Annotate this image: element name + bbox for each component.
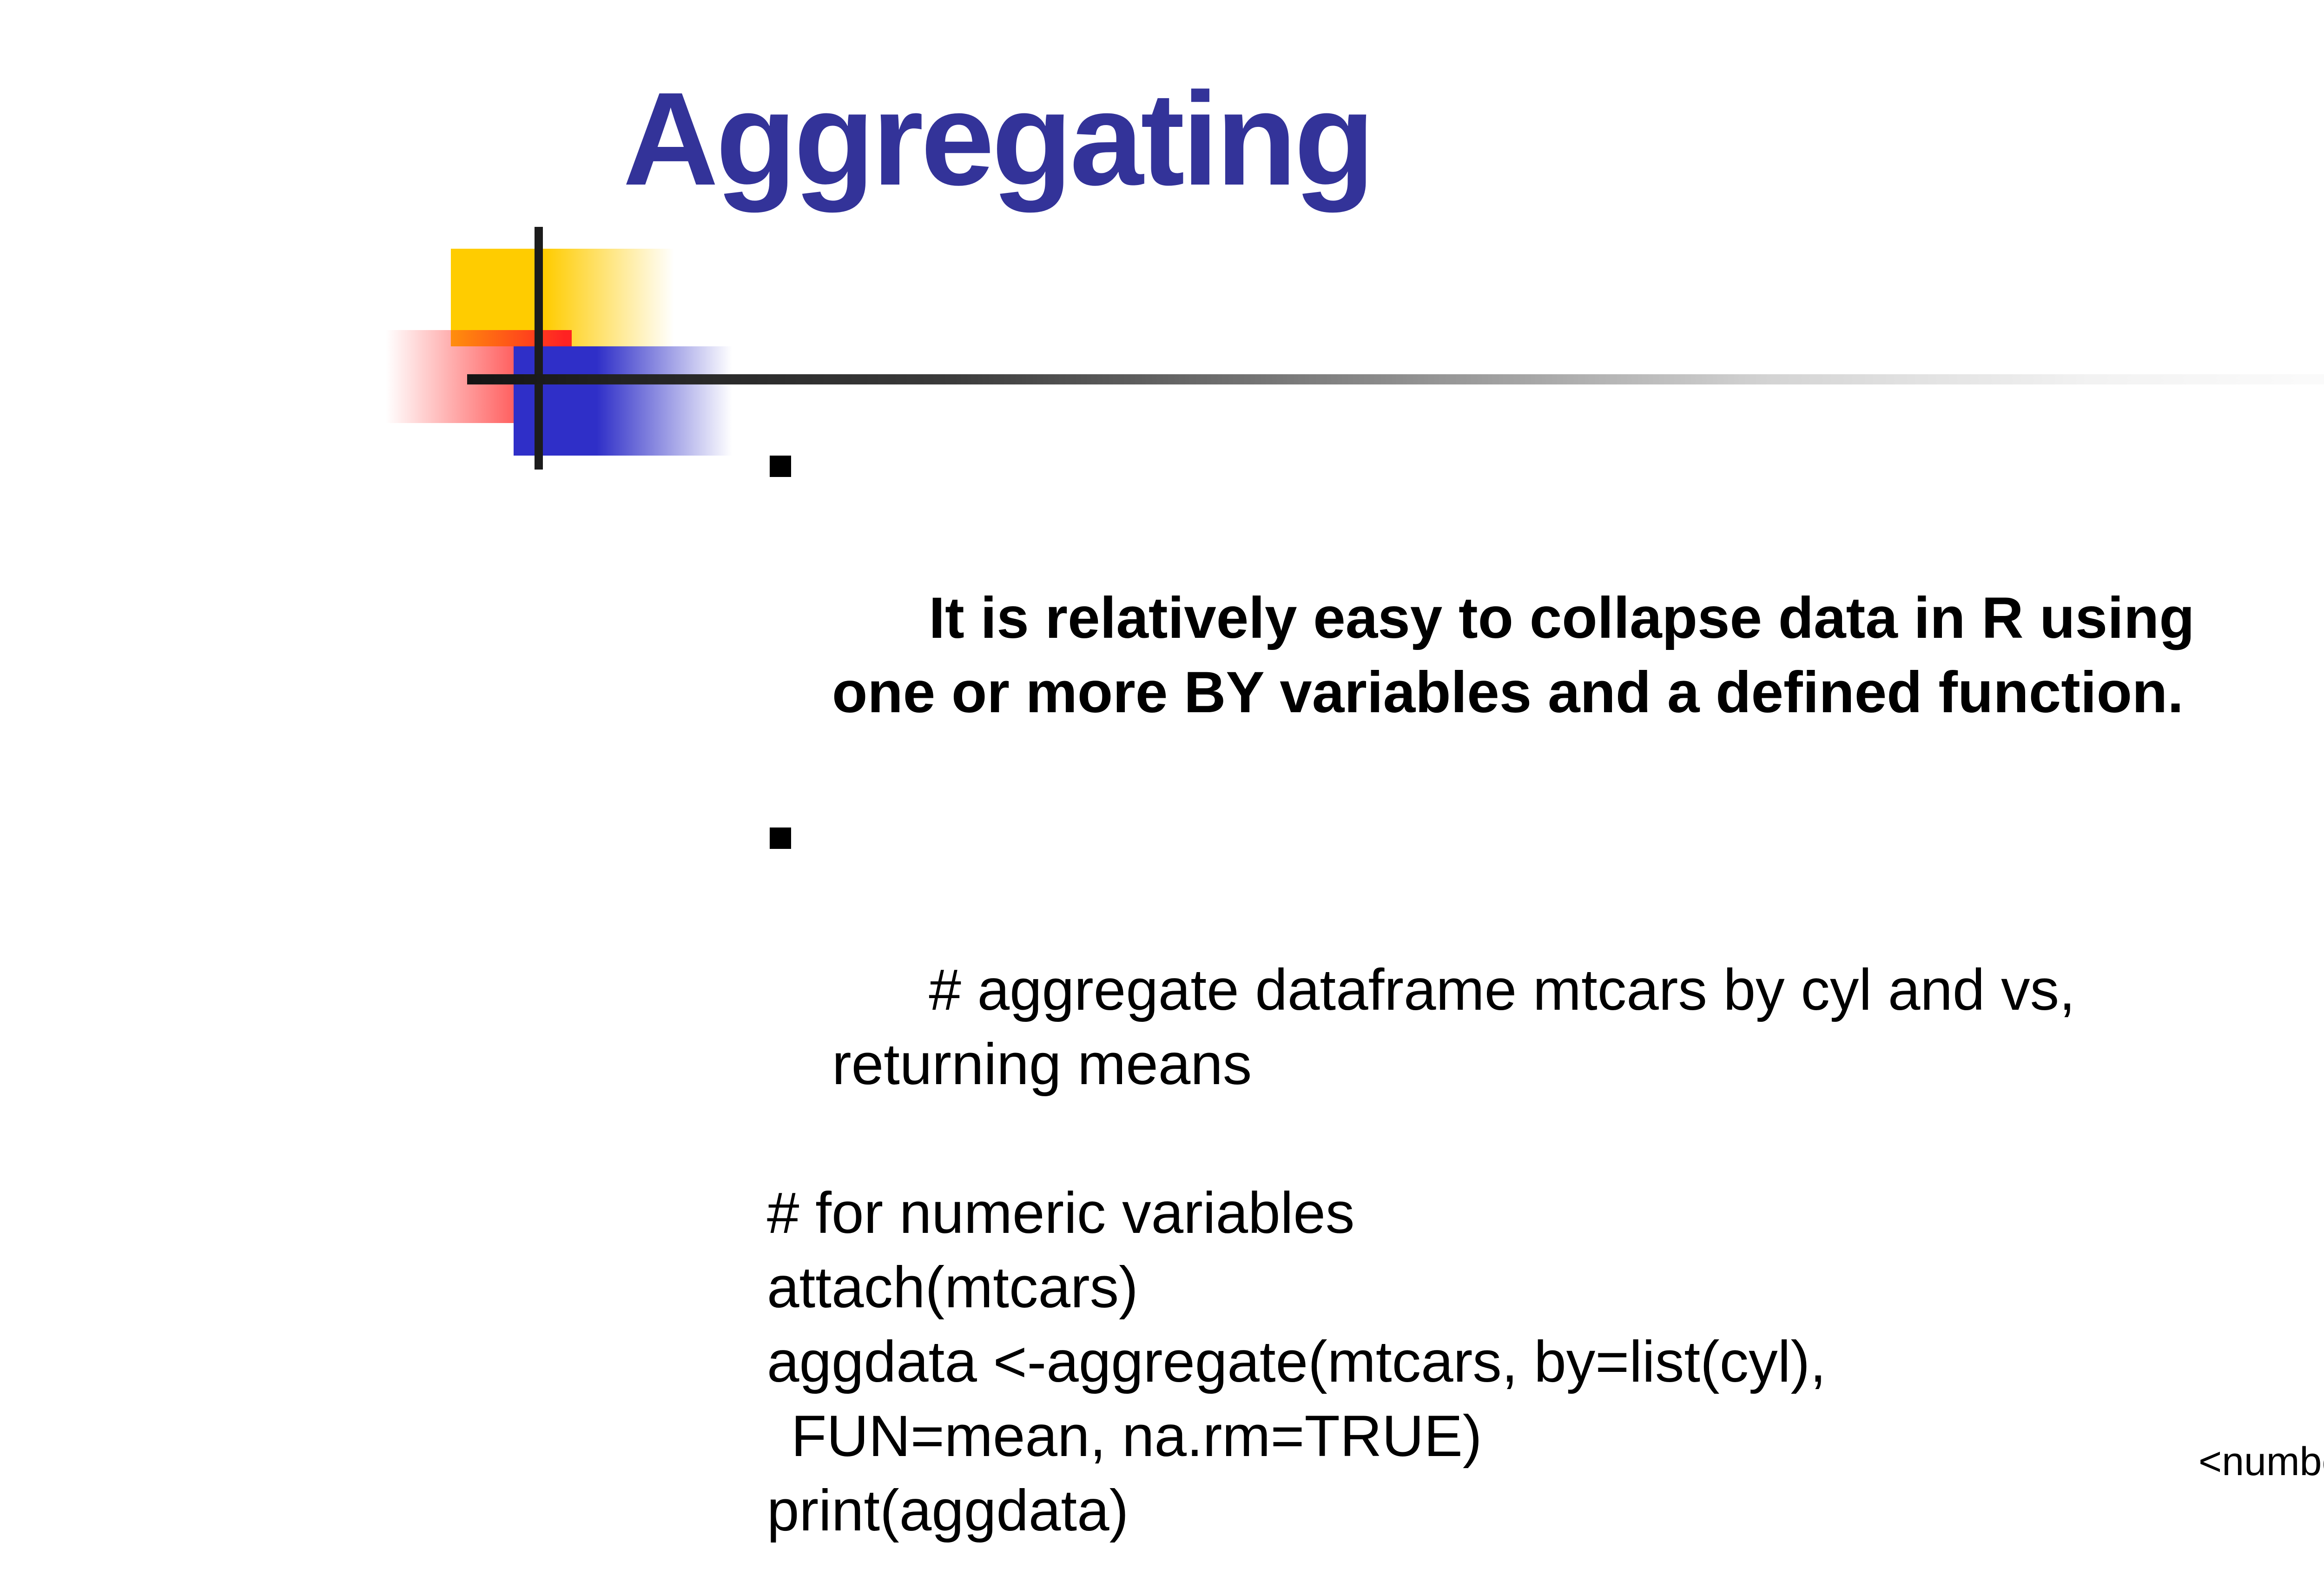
bullet-list-item: It is relatively easy to collapse data i… <box>767 432 2254 804</box>
code-line: attach(mtcars) <box>767 1251 2254 1325</box>
bullet-list-item: # aggregate dataframe mtcars by cyl and … <box>767 804 2254 1176</box>
blue-square-icon <box>514 346 732 456</box>
code-line-continuation: FUN=mean, na.rm=TRUE) <box>767 1399 2254 1474</box>
code-line: print(aggdata) <box>767 1474 2254 1548</box>
square-bullet-icon <box>770 828 791 849</box>
bullet-list-item: OR use apply <box>767 1548 2254 1569</box>
vertical-rule-icon <box>535 227 543 470</box>
presentation-slide: Aggregating It is relatively easy to col… <box>0 0 2324 1569</box>
bullet-item-label: It is relatively easy to collapse data i… <box>832 586 2211 725</box>
decorative-logo-group <box>390 223 716 474</box>
slide-title: Aggregating <box>623 70 2017 209</box>
bullet-item-label: # aggregate dataframe mtcars by cyl and … <box>832 958 2092 1097</box>
code-line: aggdata <-aggregate(mtcars, by=list(cyl)… <box>767 1325 2254 1399</box>
square-bullet-icon <box>770 456 791 477</box>
horizontal-divider-rule <box>467 374 2324 384</box>
code-line: # for numeric variables <box>767 1176 2254 1251</box>
slide-body-text: It is relatively easy to collapse data i… <box>767 432 2254 1569</box>
slide-number-placeholder: <number> <box>2199 1439 2324 1485</box>
